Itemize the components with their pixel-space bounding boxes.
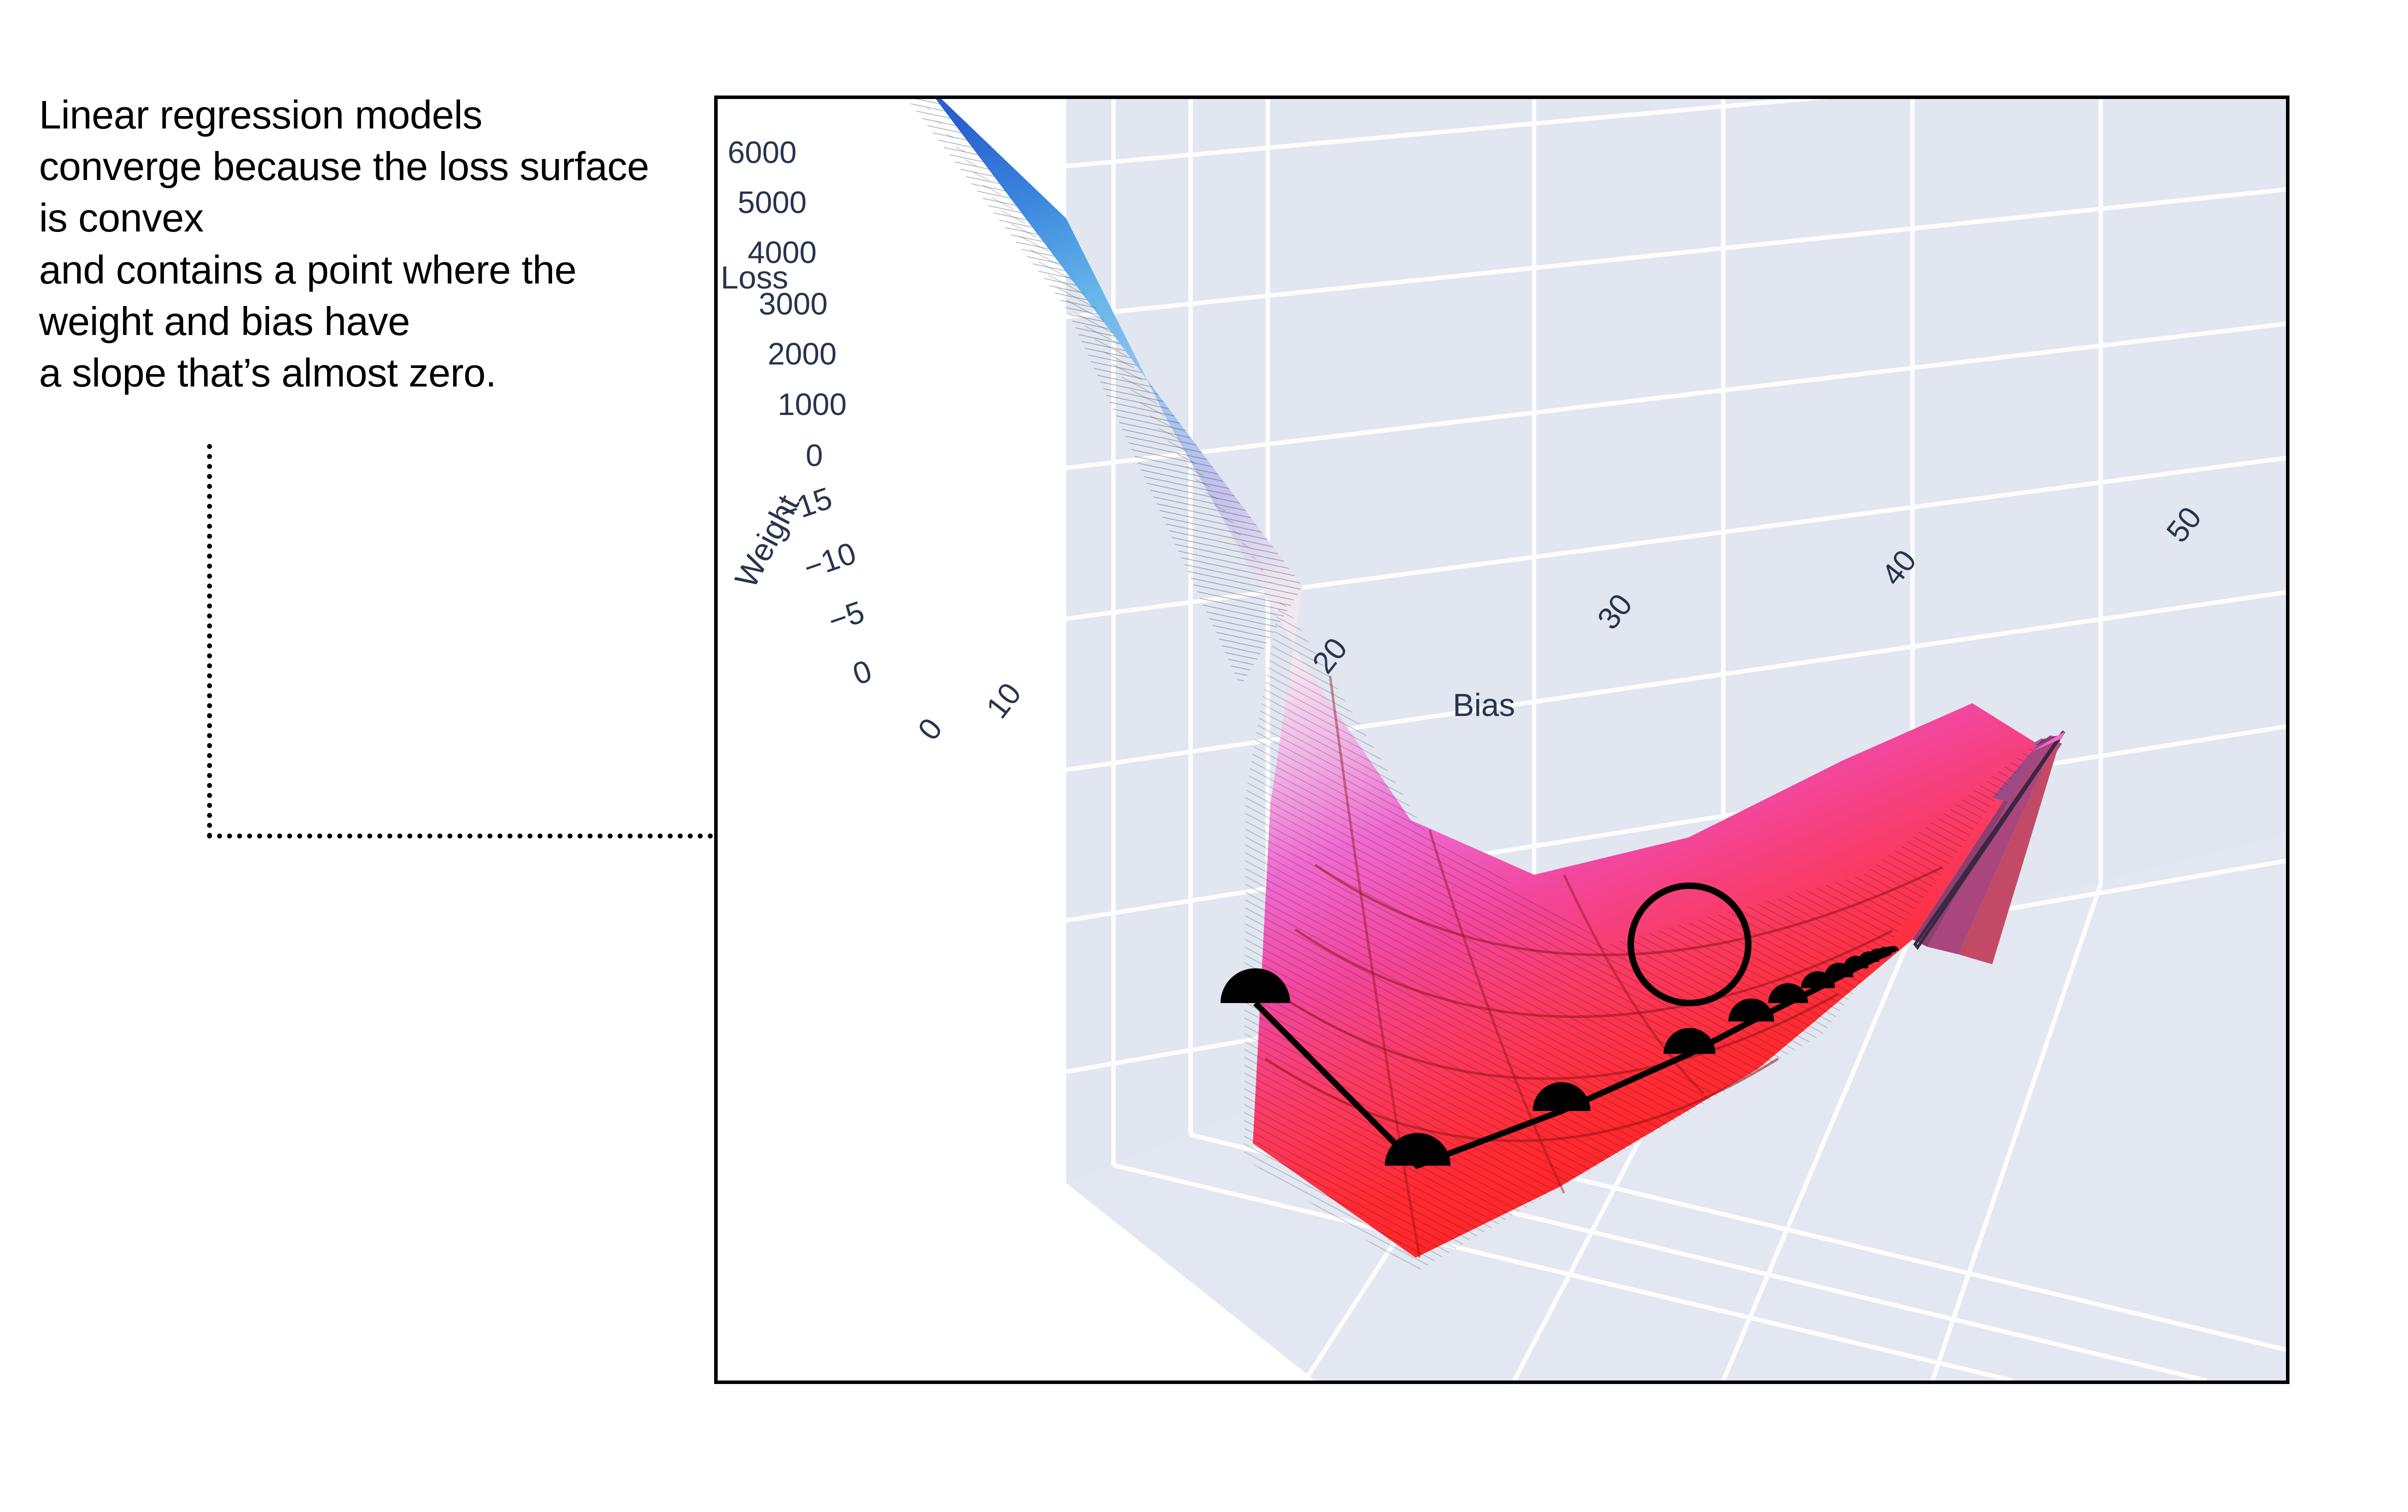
plot-frame: 6000 5000 4000 3000 2000 1000 0 Loss −15… <box>714 95 2289 1384</box>
leader-line-vertical <box>207 444 212 838</box>
z-tick-5000: 5000 <box>738 185 807 220</box>
z-axis-title: Loss <box>721 259 788 296</box>
z-tick-0: 0 <box>806 438 823 473</box>
x-axis-title: Bias <box>1453 686 1515 723</box>
z-tick-1000: 1000 <box>778 387 847 422</box>
caption-text: Linear regression models converge becaus… <box>39 89 669 398</box>
loss-surface-3d-plot <box>718 99 2286 1380</box>
z-tick-2000: 2000 <box>768 336 837 372</box>
z-tick-6000: 6000 <box>728 135 797 170</box>
